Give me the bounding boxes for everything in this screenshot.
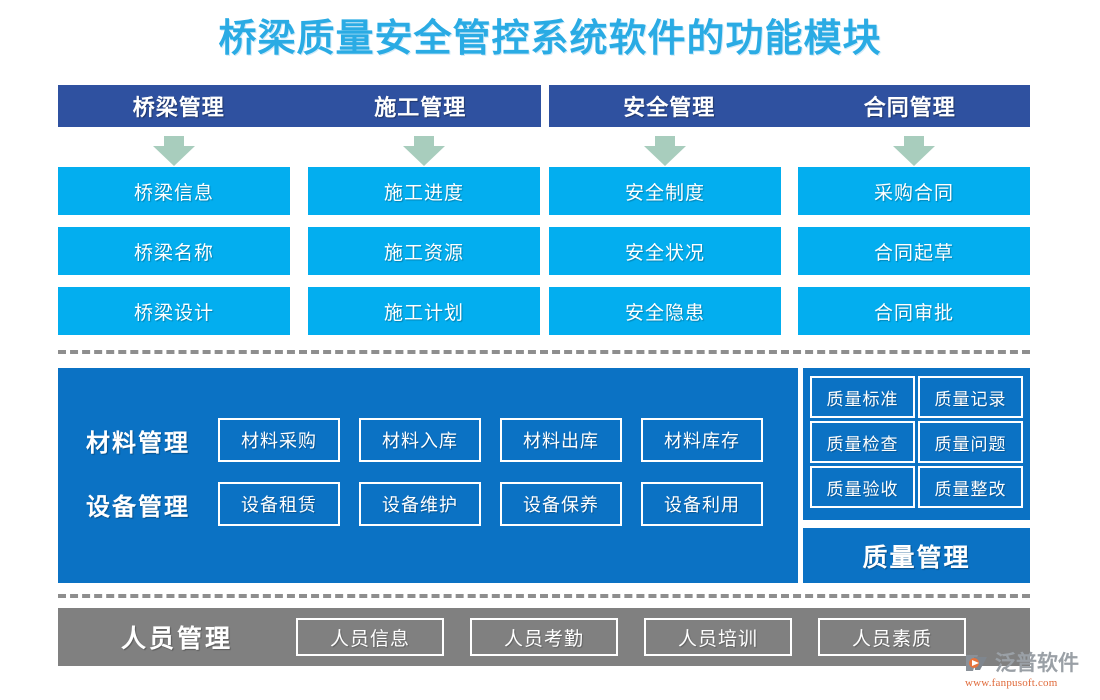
- module-contract-draft[interactable]: 合同起草: [798, 227, 1030, 275]
- quality-record[interactable]: 质量记录: [918, 376, 1023, 418]
- fanpu-logo-icon: [965, 651, 991, 675]
- equipment-row: 设备管理 设备租赁 设备维护 设备保养 设备利用: [58, 480, 798, 528]
- down-arrow-icon: [893, 136, 935, 166]
- watermark-url: www.fanpusoft.com: [965, 677, 1095, 689]
- personnel-panel: 人员管理 人员信息 人员考勤 人员培训 人员素质: [58, 608, 1030, 666]
- module-safety-status[interactable]: 安全状况: [549, 227, 781, 275]
- down-arrow-icon: [644, 136, 686, 166]
- material-row: 材料管理 材料采购 材料入库 材料出库 材料库存: [58, 416, 798, 464]
- quality-acceptance[interactable]: 质量验收: [810, 466, 915, 508]
- down-arrow-icon: [403, 136, 445, 166]
- down-arrow-icon: [153, 136, 195, 166]
- module-construction-plan[interactable]: 施工计划: [308, 287, 540, 335]
- module-column-contract: 采购合同 合同起草 合同审批: [798, 167, 1030, 347]
- personnel-management-label: 人员管理: [58, 619, 296, 655]
- module-purchase-contract[interactable]: 采购合同: [798, 167, 1030, 215]
- material-management-label: 材料管理: [58, 423, 218, 458]
- personnel-info[interactable]: 人员信息: [296, 618, 444, 656]
- equipment-rental[interactable]: 设备租赁: [218, 482, 340, 526]
- module-column-bridge: 桥梁信息 桥梁名称 桥梁设计: [58, 167, 290, 347]
- header-safety-management[interactable]: 安全管理: [549, 85, 790, 127]
- module-column-construction: 施工进度 施工资源 施工计划: [308, 167, 540, 347]
- material-inventory[interactable]: 材料库存: [641, 418, 763, 462]
- header-group-right: 安全管理 合同管理: [549, 85, 1030, 127]
- module-construction-resource[interactable]: 施工资源: [308, 227, 540, 275]
- header-bridge-management[interactable]: 桥梁管理: [58, 85, 300, 127]
- header-group-left: 桥梁管理 施工管理: [58, 85, 541, 127]
- quality-inspection[interactable]: 质量检查: [810, 421, 915, 463]
- module-construction-progress[interactable]: 施工进度: [308, 167, 540, 215]
- diagram-canvas: 桥梁质量安全管控系统软件的功能模块 桥梁管理 施工管理 安全管理 合同管理 桥梁…: [0, 0, 1100, 700]
- material-equipment-panel: 材料管理 材料采购 材料入库 材料出库 材料库存 设备管理 设备租赁 设备维护 …: [58, 368, 798, 583]
- equipment-utilization[interactable]: 设备利用: [641, 482, 763, 526]
- quality-standard[interactable]: 质量标准: [810, 376, 915, 418]
- module-bridge-info[interactable]: 桥梁信息: [58, 167, 290, 215]
- equipment-upkeep[interactable]: 设备保养: [500, 482, 622, 526]
- watermark: 泛普软件 www.fanpusoft.com: [965, 648, 1095, 696]
- personnel-attendance[interactable]: 人员考勤: [470, 618, 618, 656]
- material-outbound[interactable]: 材料出库: [500, 418, 622, 462]
- header-construction-management[interactable]: 施工管理: [300, 85, 542, 127]
- quality-rectification[interactable]: 质量整改: [918, 466, 1023, 508]
- personnel-quality[interactable]: 人员素质: [818, 618, 966, 656]
- module-safety-hazard[interactable]: 安全隐患: [549, 287, 781, 335]
- dashed-divider-bottom: [58, 594, 1030, 598]
- page-title: 桥梁质量安全管控系统软件的功能模块: [0, 16, 1100, 62]
- equipment-maintenance[interactable]: 设备维护: [359, 482, 481, 526]
- dashed-divider-top: [58, 350, 1030, 354]
- module-contract-approval[interactable]: 合同审批: [798, 287, 1030, 335]
- module-bridge-design[interactable]: 桥梁设计: [58, 287, 290, 335]
- personnel-training[interactable]: 人员培训: [644, 618, 792, 656]
- header-contract-management[interactable]: 合同管理: [790, 85, 1031, 127]
- watermark-brand: 泛普软件: [995, 651, 1079, 675]
- quality-management-title: 质量管理: [803, 528, 1030, 583]
- quality-issue[interactable]: 质量问题: [918, 421, 1023, 463]
- material-purchase[interactable]: 材料采购: [218, 418, 340, 462]
- quality-panel: 质量标准 质量记录 质量检查 质量问题 质量验收 质量整改: [803, 368, 1030, 520]
- module-safety-system[interactable]: 安全制度: [549, 167, 781, 215]
- module-bridge-name[interactable]: 桥梁名称: [58, 227, 290, 275]
- module-column-safety: 安全制度 安全状况 安全隐患: [549, 167, 781, 347]
- equipment-management-label: 设备管理: [58, 487, 218, 522]
- material-inbound[interactable]: 材料入库: [359, 418, 481, 462]
